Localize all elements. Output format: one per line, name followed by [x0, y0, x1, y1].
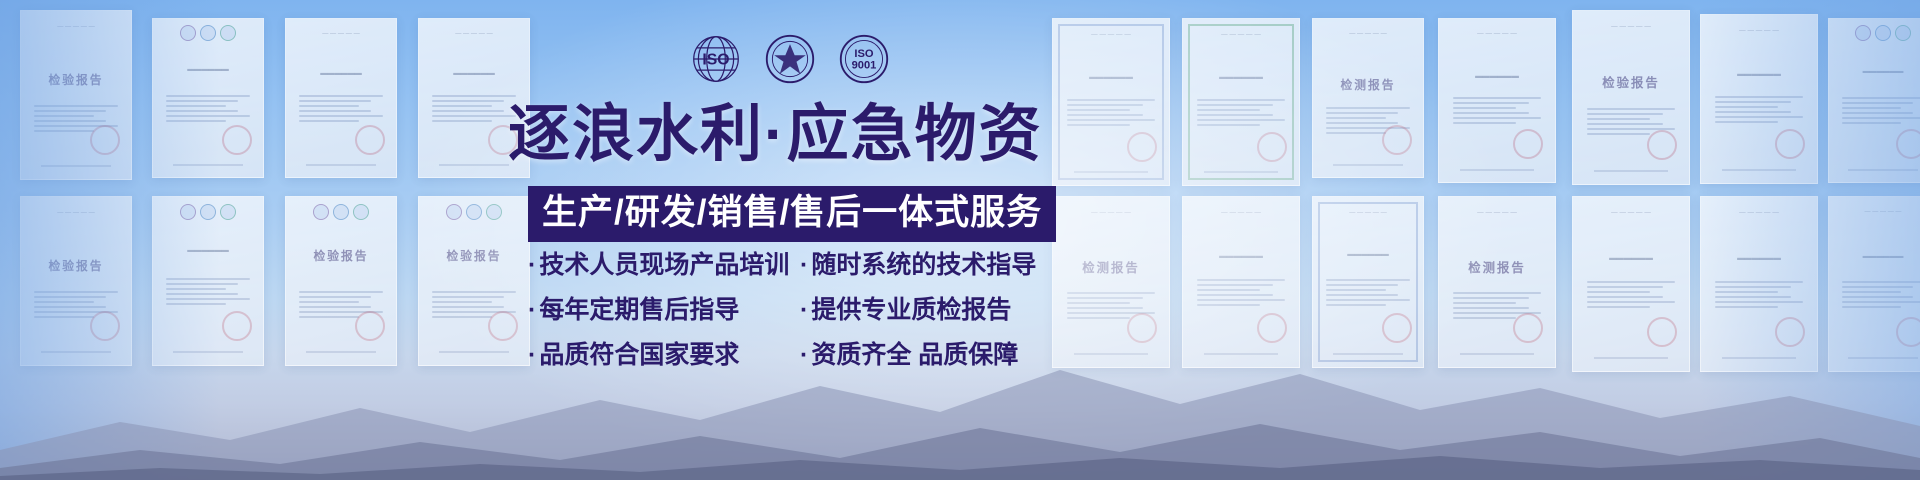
certificate-header: — — — — — — [21, 23, 131, 30]
certificate-footer — [439, 164, 509, 166]
certificate-seal — [1647, 130, 1677, 160]
certificate-footer — [173, 164, 243, 166]
certificate-ccc-2: ▬▬▬▬▬▬ — [152, 196, 264, 366]
certificate-footer — [1204, 353, 1278, 355]
bullet-icon: · — [528, 341, 536, 369]
svg-text:ISO: ISO — [854, 48, 874, 60]
certificate-seal — [1513, 313, 1543, 343]
badge-icon — [220, 25, 236, 41]
certificate-footer — [1204, 171, 1278, 173]
quality-certificate-4: — — — — —▬▬▬▬▬▬ — [1182, 196, 1300, 368]
certificate-footer — [173, 351, 243, 353]
certificate-footer — [1722, 357, 1796, 359]
certificate-seal — [90, 125, 120, 155]
certificate-footer — [1848, 169, 1917, 171]
badge-icon — [333, 204, 349, 220]
certificate-seal — [355, 311, 385, 341]
certificate-title: 检验报告 — [21, 257, 131, 274]
certificate-title: ▬▬▬▬▬▬ — [419, 70, 529, 77]
feature-label: 提供专业质检报告 — [811, 296, 1011, 324]
feature-item: ·每年定期售后指导 — [528, 293, 800, 327]
svg-text:ISO: ISO — [702, 52, 729, 69]
certificate-badges — [1838, 29, 1920, 38]
certificate-footer — [41, 351, 111, 353]
certificate-header: — — — — — — [21, 209, 131, 216]
badge-icon — [200, 25, 216, 41]
feature-label: 品质符合国家要求 — [539, 341, 739, 369]
iso-globe-logo: ISO — [690, 31, 742, 87]
certificate-header: — — — — — — [1439, 209, 1555, 216]
subtitle-text: 生产/研发/销售/售后一体式服务 — [542, 194, 1042, 232]
badge-icon — [180, 204, 196, 220]
inspection-report-1: — — — — —检验报告 — [1572, 10, 1690, 185]
quality-certificate-1: ▬▬▬▬▬▬ — [1828, 18, 1920, 183]
certificate-header: — — — — — — [1053, 31, 1169, 38]
badge-icon — [180, 25, 196, 41]
certification-logos: ISO ISO 9001 — [690, 28, 890, 90]
certificate-title: ▬▬▬▬▬▬ — [1829, 253, 1920, 260]
feature-item: ·随时系统的技术指导 — [800, 248, 1062, 282]
certificate-footer — [1074, 171, 1148, 173]
certificate-seal — [1127, 132, 1157, 162]
badge-icon — [1895, 25, 1911, 41]
certificate-badges — [428, 207, 520, 216]
certificate-title: ▬▬▬▬▬▬ — [1701, 253, 1817, 262]
quality-certificate-1: — — — — —▬▬▬▬▬▬ — [285, 18, 397, 178]
certificate-seal — [1257, 313, 1287, 343]
certificate-body-lines — [166, 278, 250, 305]
certificate-header: — — — — — — [1313, 30, 1423, 37]
certificate-title: 检验报告 — [1573, 73, 1689, 91]
inspection-report-2: — — — — —检验报告 — [20, 196, 132, 366]
certificate-seal — [1775, 129, 1805, 159]
certificate-body-lines — [1715, 281, 1803, 308]
certificate-seal — [90, 311, 120, 341]
certificate-header: — — — — — — [1439, 30, 1555, 37]
certificate-header: — — — — — — [419, 30, 529, 37]
certificate-header: — — — — — — [1053, 209, 1169, 216]
feature-label: 资质齐全 品质保障 — [811, 341, 1018, 369]
certificate-title: ▬▬▬▬▬▬ — [1053, 72, 1169, 81]
certificate-body-lines — [1326, 279, 1410, 306]
quality-certificate-2: — — — — —▬▬▬▬▬▬ — [1572, 196, 1690, 372]
certificate-title: 检验报告 — [21, 71, 131, 88]
bullet-icon: · — [528, 251, 536, 279]
test-report-2: — — — — —检测报告 — [1052, 196, 1170, 368]
certificate-title: 检验报告 — [419, 247, 529, 264]
certificate-title: 检测报告 — [1439, 258, 1555, 276]
feature-item: ·提供专业质检报告 — [800, 293, 1062, 327]
certificate-header: — — — — — — [1313, 209, 1423, 216]
certificate-footer — [1594, 357, 1668, 359]
certificate-footer — [1460, 169, 1534, 171]
test-report-1: — — — — —检测报告 — [1312, 18, 1424, 178]
subtitle-bar: 生产/研发/销售/售后一体式服务 — [528, 186, 1056, 242]
certificate-body-lines — [1842, 281, 1920, 308]
certificate-seal — [488, 311, 518, 341]
certificate-seal — [1896, 317, 1920, 347]
certificate-body-lines — [1197, 99, 1285, 126]
badge-icon — [220, 204, 236, 220]
certificate-title: ▬▬▬▬▬▬ — [286, 70, 396, 77]
certificate-title: 检测报告 — [1313, 76, 1423, 93]
certificate-footer — [1333, 353, 1403, 355]
certificate-footer — [306, 164, 376, 166]
certificate-title: ▬▬▬▬▬▬ — [1183, 251, 1299, 260]
bullet-icon: · — [528, 296, 536, 324]
certificate-header: — — — — — — [1701, 27, 1817, 34]
certificate-header: — — — — — — [1183, 31, 1299, 38]
certificate-seal — [355, 125, 385, 155]
promo-banner: — — — — —检验报告 ▬▬▬▬▬▬ — — — — —▬▬▬▬▬▬ — —… — [0, 0, 1920, 480]
badge-icon — [353, 204, 369, 220]
management-system-certificate-2: — — — — —▬▬▬▬▬▬ — [1312, 196, 1424, 368]
certificate-title: ▬▬▬▬▬▬ — [1573, 253, 1689, 262]
certificate-ccc-1: — — — — —▬▬▬▬▬▬ — [1700, 14, 1818, 184]
feature-item: ·资质齐全 品质保障 — [800, 338, 1062, 372]
feature-label: 随时系统的技术指导 — [811, 251, 1036, 279]
badge-icon — [486, 204, 502, 220]
certificate-seal — [222, 125, 252, 155]
certificate-badges — [162, 28, 254, 37]
certificate-seal — [222, 311, 252, 341]
certificate-header: — — — — — — [1183, 209, 1299, 216]
certificate-body-lines — [1453, 97, 1541, 124]
environment-certificate-1: — — — — —▬▬▬▬▬▬ — [1182, 18, 1300, 186]
feature-list: ·技术人员现场产品培训 ·随时系统的技术指导 ·每年定期售后指导 ·提供专业质检… — [528, 248, 1068, 383]
certificate-header: — — — — — — [1573, 209, 1689, 216]
certificate-seal — [1775, 317, 1805, 347]
certificate-title: ▬▬▬▬▬▬ — [1701, 69, 1817, 78]
certificate-ccc-1: ▬▬▬▬▬▬ — [152, 18, 264, 178]
certificate-body-lines — [166, 95, 250, 122]
certificate-seal — [1382, 125, 1412, 155]
certificate-body-lines — [432, 95, 516, 122]
certificate-footer — [1594, 170, 1668, 172]
certificate-seal — [1257, 132, 1287, 162]
test-report-3: — — — — —检测报告 — [1438, 196, 1556, 368]
badge-icon — [313, 204, 329, 220]
certificate-body-lines — [1197, 279, 1285, 306]
certificate-body-lines — [1587, 281, 1675, 308]
certificate-footer — [1722, 169, 1796, 171]
certificate-body-lines — [1842, 97, 1920, 124]
certificate-header: — — — — — — [1829, 209, 1920, 215]
certificate-header: — — — — — — [1573, 23, 1689, 30]
svg-text:9001: 9001 — [852, 59, 877, 71]
inspection-report-4: 检验报告 — [418, 196, 530, 366]
certificate-seal — [1382, 313, 1412, 343]
bullet-icon: · — [800, 251, 808, 279]
badge-icon — [200, 204, 216, 220]
quality-seal-logo — [764, 31, 816, 87]
certificate-header: — — — — — — [1701, 209, 1817, 216]
feature-item: ·技术人员现场产品培训 — [528, 248, 800, 282]
certificate-seal — [1513, 129, 1543, 159]
feature-item: ·品质符合国家要求 — [528, 338, 800, 372]
certificate-footer — [1074, 353, 1148, 355]
certificate-footer — [306, 351, 376, 353]
inspection-report-3: 检验报告 — [285, 196, 397, 366]
certificate-title: ▬▬▬▬▬▬ — [153, 247, 263, 254]
certificate-title: 检测报告 — [1053, 258, 1169, 276]
certificate-body-lines — [299, 95, 383, 122]
feature-label: 技术人员现场产品培训 — [539, 251, 789, 279]
certificate-footer — [439, 351, 509, 353]
certificate-footer — [1333, 164, 1403, 166]
certificate-title: 检验报告 — [286, 247, 396, 264]
certificate-title: ▬▬▬▬▬▬ — [153, 66, 263, 73]
badge-icon — [1855, 25, 1871, 41]
certificate-title: ▬▬▬▬▬▬ — [1439, 71, 1555, 80]
certificate-title: ▬▬▬▬▬▬ — [1183, 72, 1299, 81]
banner-title: 逐浪水利·应急物资 — [508, 103, 1108, 167]
certificate-badges — [162, 207, 254, 216]
feature-row: ·品质符合国家要求 ·资质齐全 品质保障 — [528, 338, 1068, 372]
bullet-icon: · — [800, 341, 808, 369]
certificate-title: ▬▬▬▬▬▬ — [1313, 251, 1423, 258]
certificate-badges — [295, 207, 387, 216]
badge-icon — [446, 204, 462, 220]
management-system-certificate-1: — — — — —▬▬▬▬▬▬ — [1700, 196, 1818, 372]
quality-certificate-3: — — — — —▬▬▬▬▬▬ — [1438, 18, 1556, 183]
badge-icon — [1875, 25, 1891, 41]
feature-label: 每年定期售后指导 — [539, 296, 739, 324]
certificate-body-lines — [1715, 96, 1803, 123]
environment-certificate-1: — — — — —▬▬▬▬▬▬ — [1828, 196, 1920, 372]
certificate-seal — [1127, 313, 1157, 343]
certificate-footer — [1848, 357, 1917, 359]
certificate-footer — [1460, 353, 1534, 355]
inspection-report-1: — — — — —检验报告 — [20, 10, 132, 180]
feature-row: ·技术人员现场产品培训 ·随时系统的技术指导 — [528, 248, 1068, 282]
bullet-icon: · — [800, 296, 808, 324]
certificate-footer — [41, 165, 111, 167]
certificate-seal — [1896, 129, 1920, 159]
iso-9001-logo: ISO 9001 — [838, 31, 890, 87]
badge-icon — [466, 204, 482, 220]
feature-row: ·每年定期售后指导 ·提供专业质检报告 — [528, 293, 1068, 327]
certificate-title: ▬▬▬▬▬▬ — [1829, 68, 1920, 75]
certificate-header: — — — — — — [286, 30, 396, 37]
certificate-seal — [1647, 317, 1677, 347]
